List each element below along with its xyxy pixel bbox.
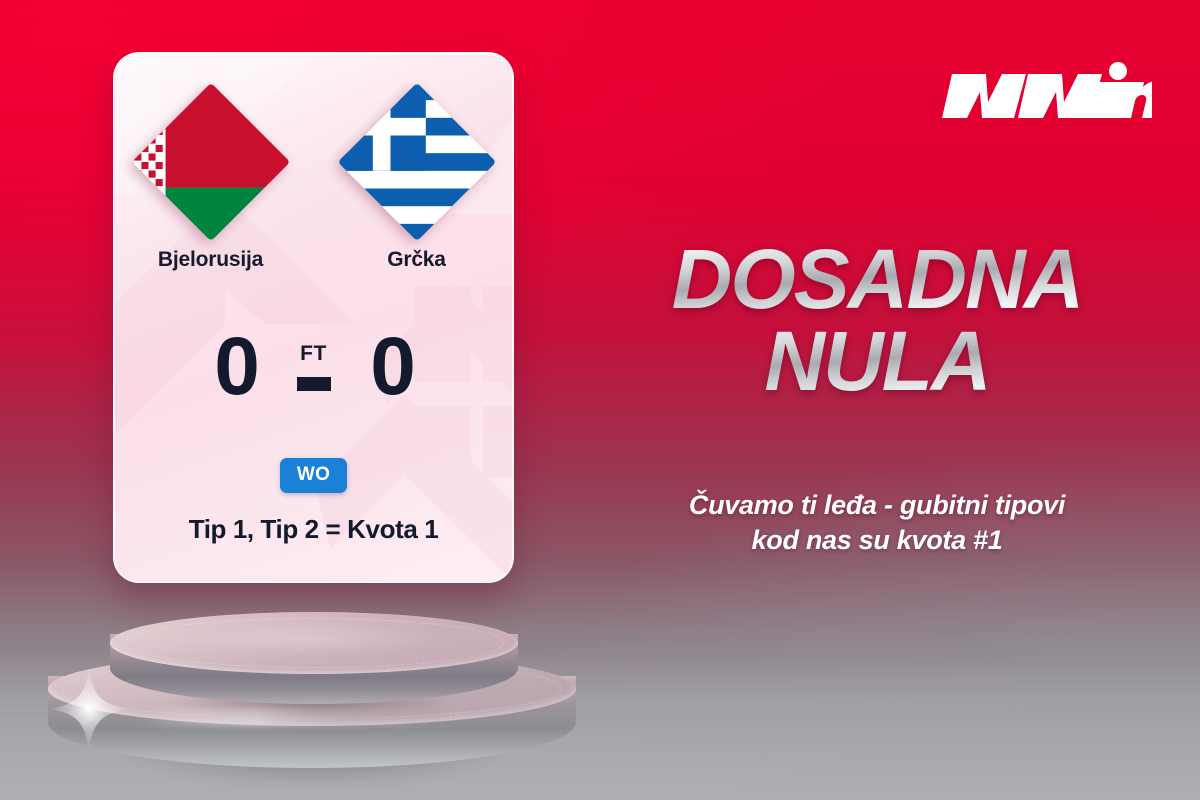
headline-line-2: NULA	[604, 320, 1150, 402]
period-label: FT	[284, 343, 344, 364]
tip-line: Tip 1, Tip 2 = Kvota 1	[115, 514, 512, 545]
belarus-flag-art	[131, 83, 289, 241]
podium-graphic	[38, 612, 598, 797]
banner-stage: Bjelorusija	[0, 0, 1200, 800]
status-badge[interactable]: WO	[280, 458, 347, 493]
away-team: Grčka	[352, 106, 482, 272]
sparkle-icon	[46, 666, 132, 752]
away-team-name: Grčka	[352, 248, 482, 272]
score-dash-icon	[297, 377, 331, 391]
wwin-logo-icon	[942, 62, 1152, 124]
score-separator-group: FT	[284, 343, 344, 391]
subhead-line-1: Čuvamo ti leđa - gubitni tipovi	[604, 488, 1150, 523]
promo-headline: DOSADNA NULA	[604, 238, 1150, 403]
match-result-card[interactable]: Bjelorusija	[113, 52, 514, 583]
greece-flag-art	[337, 83, 495, 241]
greece-flag-icon	[337, 83, 495, 241]
status-badge-wrap: WO	[115, 458, 512, 493]
belarus-flag-icon	[131, 83, 289, 241]
home-team: Bjelorusija	[146, 106, 276, 272]
away-score: 0	[344, 326, 440, 408]
promo-subhead: Čuvamo ti leđa - gubitni tipovi kod nas …	[604, 488, 1150, 558]
score-row: 0 FT 0	[115, 326, 512, 408]
teams-row: Bjelorusija	[115, 106, 512, 272]
subhead-line-2: kod nas su kvota #1	[604, 523, 1150, 558]
podium-upper-inner-ring	[150, 624, 478, 662]
headline-line-1: DOSADNA	[604, 238, 1150, 320]
home-team-name: Bjelorusija	[146, 248, 276, 272]
wwin-logo[interactable]: wwin	[942, 62, 1152, 124]
home-score: 0	[188, 326, 284, 408]
